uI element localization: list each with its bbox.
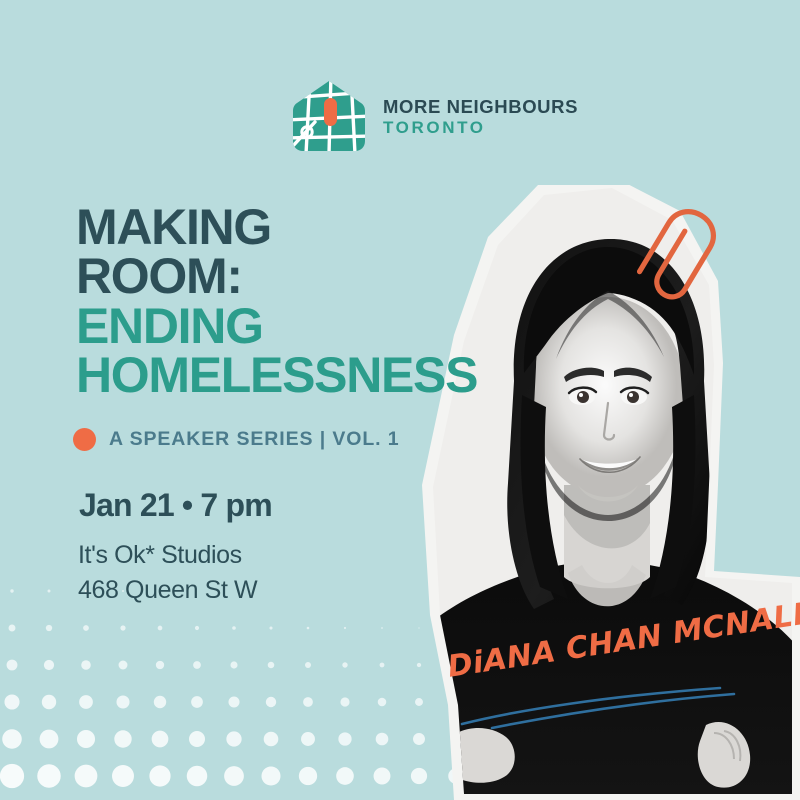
series-kicker: A SPEAKER SERIES | VOL. 1 [73,428,400,451]
headline-line-1: MAKING [76,203,496,252]
headline-line-2: ROOM: [76,252,496,301]
city-map-house-pin-icon [291,78,367,154]
series-kicker-label: A SPEAKER SERIES | VOL. 1 [109,428,400,451]
headline-line-4: HOMELESSNESS [76,351,496,400]
venue-address: 468 Queen St W [78,573,257,608]
brand-name-primary: MORE NEIGHBOURS [383,98,578,117]
headline-line-3: ENDING [76,302,496,351]
event-venue: It's Ok* Studios 468 Queen St W [78,538,257,607]
poster-headline: MAKING ROOM: ENDING HOMELESSNESS [76,203,496,400]
venue-name: It's Ok* Studios [78,538,257,573]
brand-logo-lockup: MORE NEIGHBOURS TORONTO [291,78,578,154]
brand-name-secondary: TORONTO [383,119,578,136]
event-poster: DiANA CHAN MCNALLY [0,0,800,800]
brand-wordmark: MORE NEIGHBOURS TORONTO [383,96,578,137]
event-datetime: Jan 21 • 7 pm [79,487,272,524]
orange-dot-icon [73,428,96,451]
